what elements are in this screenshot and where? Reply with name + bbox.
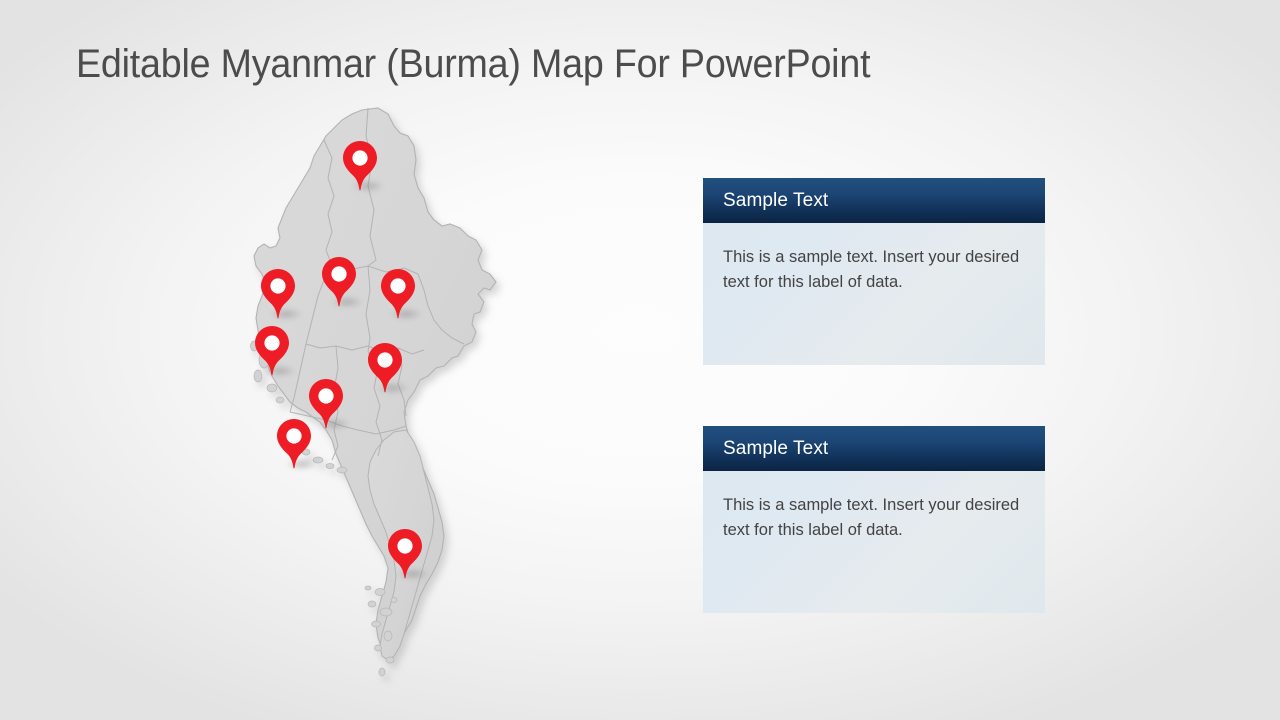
map-pin-icon (274, 418, 314, 476)
info-card-2-title: Sample Text (723, 438, 828, 460)
map-pin-icon (258, 268, 298, 326)
info-card-1-body: This is a sample text. Insert your desir… (703, 223, 1045, 365)
info-card-1-title: Sample Text (723, 190, 828, 212)
map-pin-icon (252, 325, 292, 383)
map-pin-icon (319, 256, 359, 314)
map-pin-marker[interactable] (365, 342, 405, 400)
map-pin-marker[interactable] (274, 418, 314, 476)
map-pin-icon (378, 268, 418, 326)
map-pin-icon (365, 342, 405, 400)
page-title: Editable Myanmar (Burma) Map For PowerPo… (76, 42, 870, 87)
info-card-2-body: This is a sample text. Insert your desir… (703, 471, 1045, 613)
map-pin-marker[interactable] (385, 528, 425, 586)
info-card-2-header: Sample Text (703, 426, 1045, 471)
myanmar-map-container[interactable] (228, 100, 518, 690)
map-pin-marker[interactable] (340, 140, 380, 198)
map-pin-marker[interactable] (378, 268, 418, 326)
info-card-1-header: Sample Text (703, 178, 1045, 223)
map-pin-marker[interactable] (258, 268, 298, 326)
map-pin-marker[interactable] (252, 325, 292, 383)
info-card-2[interactable]: Sample Text This is a sample text. Inser… (703, 426, 1045, 613)
map-pin-icon (385, 528, 425, 586)
map-pin-marker[interactable] (319, 256, 359, 314)
info-card-2-text: This is a sample text. Insert your desir… (723, 493, 1025, 543)
info-card-1-text: This is a sample text. Insert your desir… (723, 245, 1025, 295)
info-card-1[interactable]: Sample Text This is a sample text. Inser… (703, 178, 1045, 365)
map-pin-icon (340, 140, 380, 198)
